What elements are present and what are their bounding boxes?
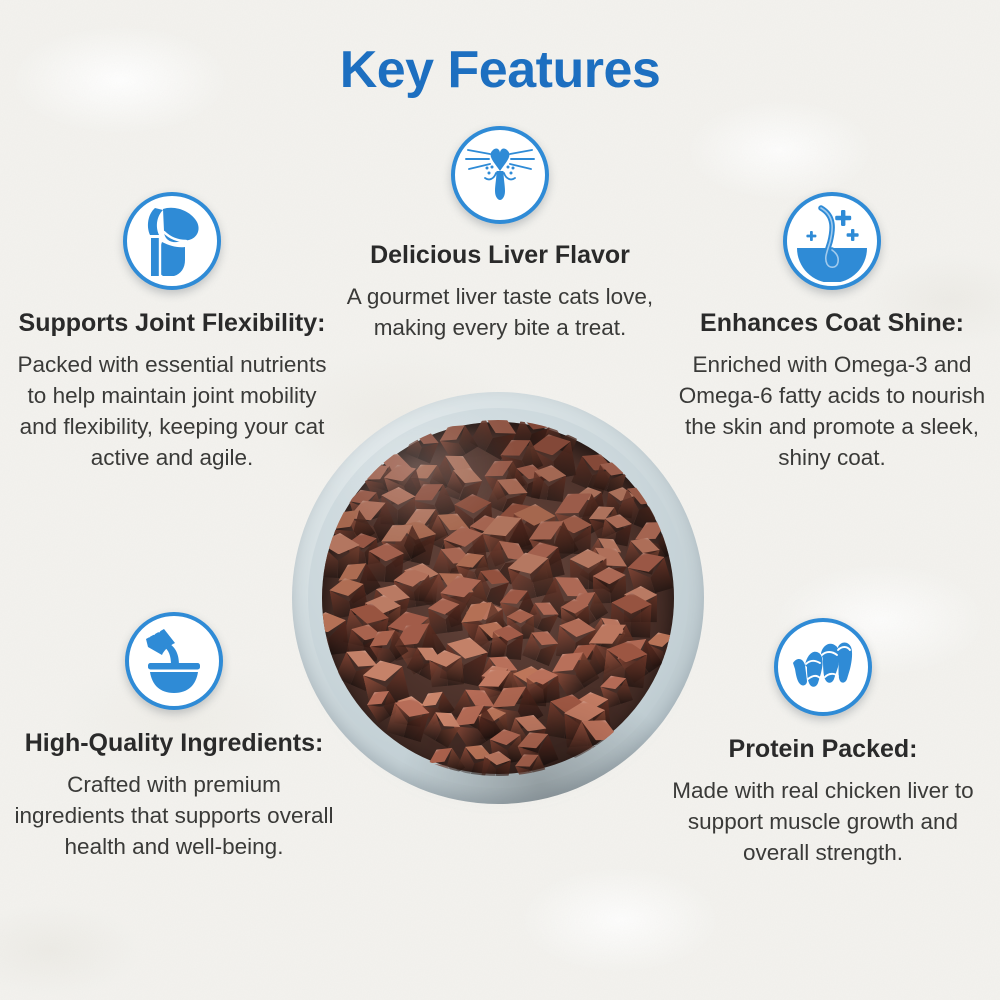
liver-cube (428, 649, 464, 688)
feature-supports-joint-flexibility: Supports Joint Flexibility: Packed with … (12, 192, 332, 473)
feature-body: Enriched with Omega-3 and Omega-6 fatty … (672, 349, 992, 473)
feature-body: A gourmet liver taste cats love, making … (330, 281, 670, 343)
feature-heading: Protein Packed: (658, 734, 988, 765)
feature-heading: Delicious Liver Flavor (330, 240, 670, 271)
feature-heading: High-Quality Ingredients: (14, 728, 334, 759)
bag-pouring-into-bowl-icon (125, 612, 223, 710)
hair-follicle-shine-icon (783, 192, 881, 290)
liver-cube (481, 749, 512, 776)
infographic-page: Key Features Supports J (0, 0, 1000, 1000)
feature-body: Packed with essential nutrients to help … (12, 349, 332, 473)
liver-treat-cubes (322, 420, 674, 776)
feature-heading: Supports Joint Flexibility: (12, 308, 332, 339)
feature-delicious-liver-flavor: Delicious Liver Flavor A gourmet liver t… (330, 126, 670, 343)
cat-muzzle-icon (451, 126, 549, 224)
joint-icon (123, 192, 221, 290)
feature-enhances-coat-shine: Enhances Coat Shine: Enriched with Omega… (672, 192, 992, 473)
feature-body: Made with real chicken liver to support … (658, 775, 988, 868)
feature-heading: Enhances Coat Shine: (672, 308, 992, 339)
protein-helix-icon (774, 618, 872, 716)
feature-high-quality-ingredients: High-Quality Ingredients: Crafted with p… (14, 612, 334, 862)
feature-body: Crafted with premium ingredients that su… (14, 769, 334, 862)
page-title: Key Features (0, 40, 1000, 100)
feature-protein-packed: Protein Packed: Made with real chicken l… (658, 618, 988, 868)
product-image-bowl-of-liver-treats (292, 392, 704, 804)
